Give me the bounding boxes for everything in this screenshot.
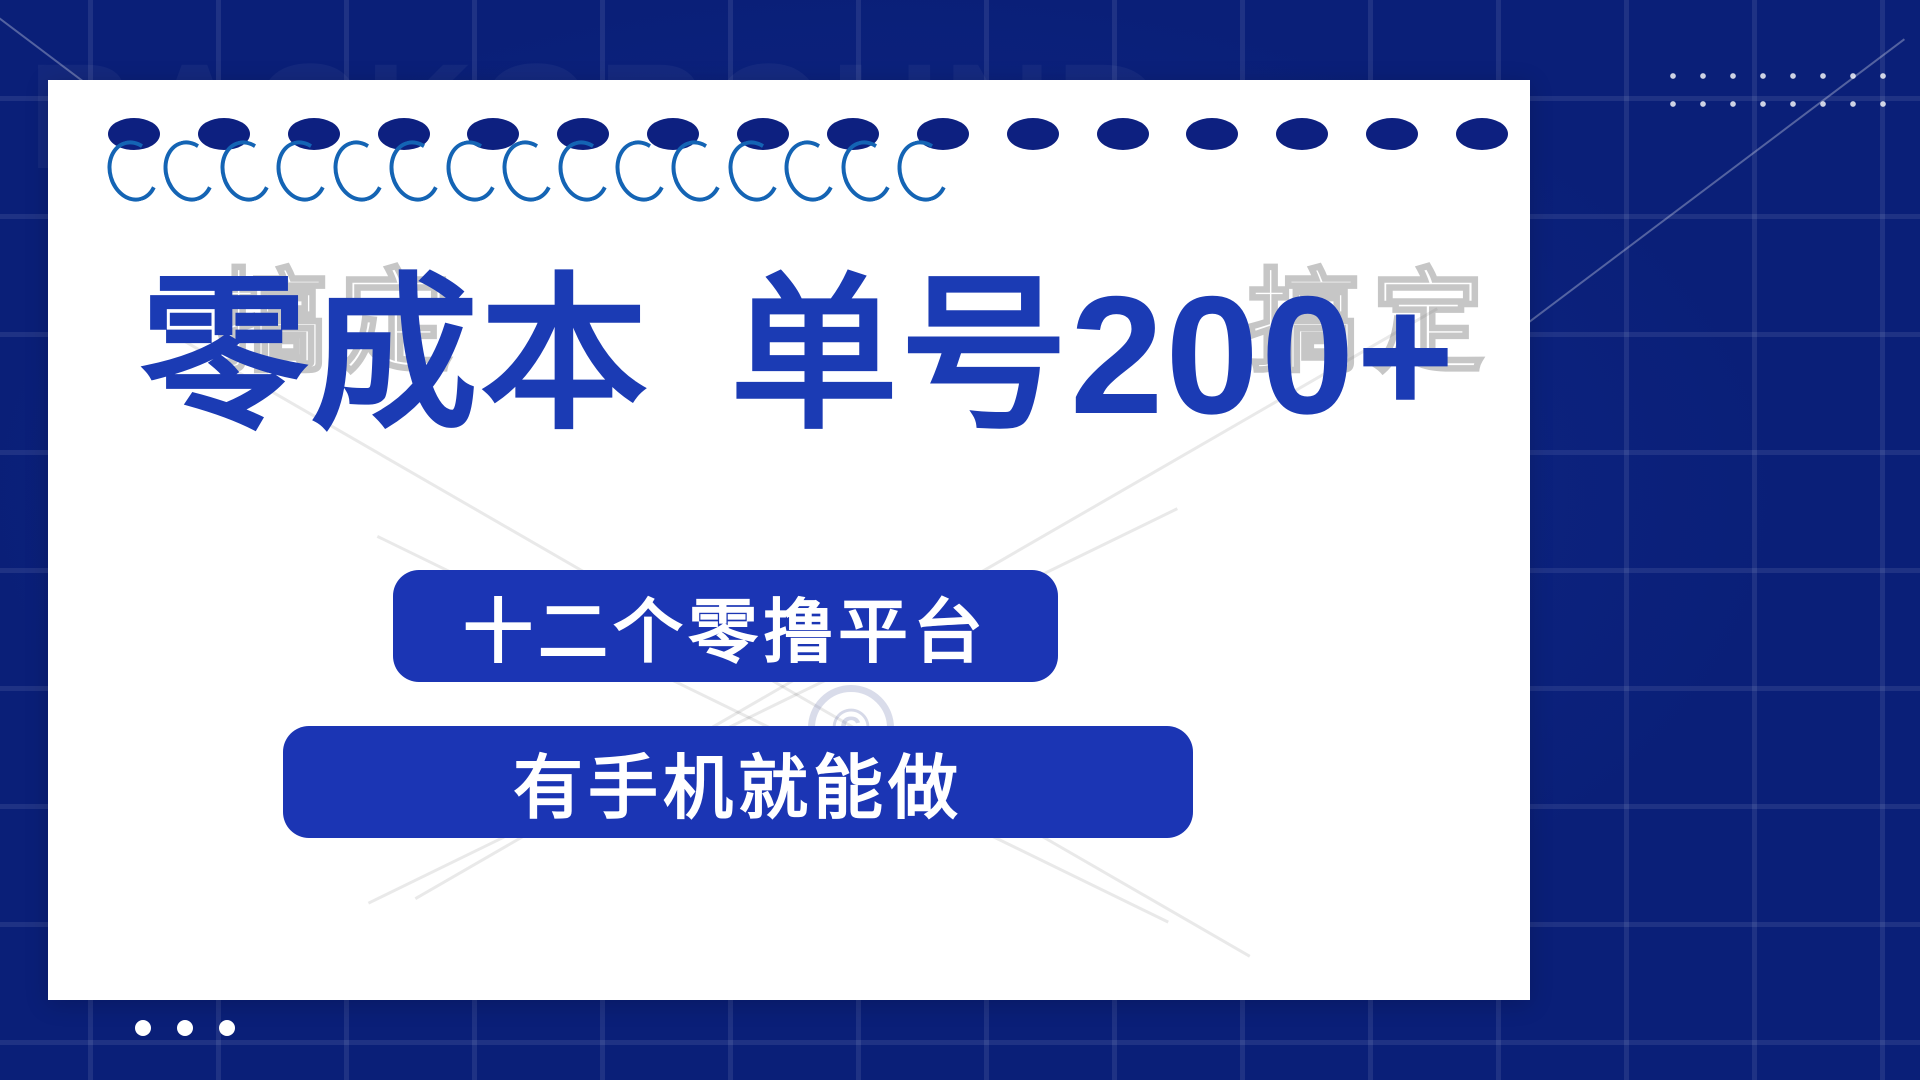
binding-hole <box>1186 118 1238 150</box>
headline-part-amount: 单号200+ <box>730 265 1456 446</box>
bottom-dot <box>135 1020 151 1036</box>
bottom-dot-indicator <box>135 1020 235 1036</box>
binding-wire-loop <box>100 134 165 207</box>
binding-wire-loop <box>326 134 391 207</box>
paper-sheet: 搞定 搞定 © 零成本 单号200+ 十二个零撸平台 有手机就能做 <box>48 80 1530 1000</box>
paper-bottom-edge <box>48 979 1530 1000</box>
sheet-diagonal-line-4 <box>368 507 1178 904</box>
spiral-binding <box>108 118 1508 228</box>
binding-hole <box>1456 118 1508 150</box>
binding-wire-loop <box>552 134 617 207</box>
binding-hole <box>1097 118 1149 150</box>
pill-button-platforms[interactable]: 十二个零撸平台 <box>393 570 1058 682</box>
page-title: 零成本 单号200+ <box>140 265 1480 446</box>
pill-button-phone[interactable]: 有手机就能做 <box>283 726 1193 838</box>
binding-hole <box>1007 118 1059 150</box>
bottom-dot <box>177 1020 193 1036</box>
bottom-dot <box>219 1020 235 1036</box>
headline-part-cost: 零成本 <box>140 265 650 446</box>
binding-hole <box>1276 118 1328 150</box>
dot-matrix-decoration <box>1658 62 1898 114</box>
binding-hole <box>1366 118 1418 150</box>
binding-wire-loop <box>778 134 843 207</box>
paper-top-edge <box>48 80 1530 101</box>
